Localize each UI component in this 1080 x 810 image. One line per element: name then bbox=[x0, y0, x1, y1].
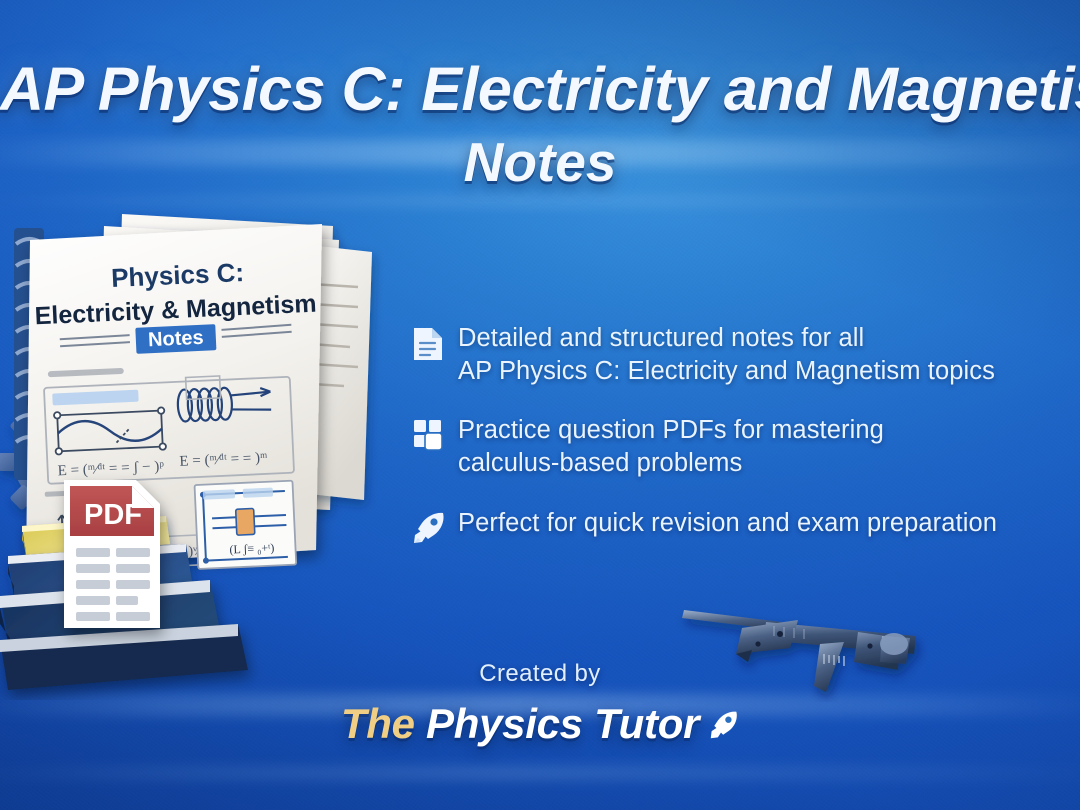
sheet-title-line-1: Physics C: bbox=[111, 257, 245, 293]
title-line-1: AP Physics C: Electricity and Magnetism bbox=[0, 58, 1080, 120]
rocket-icon bbox=[709, 702, 739, 750]
document-icon bbox=[412, 322, 458, 367]
feature-text: Practice question PDFs for mastering cal… bbox=[458, 414, 884, 480]
feature-text: Detailed and structured notes for all AP… bbox=[458, 322, 995, 388]
feature-list: Detailed and structured notes for all AP… bbox=[412, 322, 1080, 550]
poster-canvas: AP Physics C: Electricity and Magnetism … bbox=[0, 0, 1080, 810]
created-by-label: Created by bbox=[0, 660, 1080, 688]
brand-word-the: The bbox=[341, 700, 415, 747]
feature-item-practice: Practice question PDFs for mastering cal… bbox=[412, 414, 1080, 480]
pdf-label: PDF bbox=[84, 499, 142, 531]
pdf-file-badge: PDF bbox=[64, 480, 160, 628]
footer-credit: Created by The Physics Tutor bbox=[0, 660, 1080, 750]
feature-item-notes: Detailed and structured notes for all AP… bbox=[412, 322, 1080, 388]
feature-text: Perfect for quick revision and exam prep… bbox=[458, 507, 997, 540]
notes-illustration: Physics C: Electricity & Magnetism Notes bbox=[0, 200, 420, 700]
title-line-2: Notes bbox=[0, 134, 1080, 190]
rocket-icon bbox=[412, 507, 458, 550]
grid-squares-icon bbox=[412, 414, 458, 457]
light-streak-footer-secondary bbox=[0, 766, 1080, 780]
svg-text:(L ʃ≡ ₀+ᵗ): (L ʃ≡ ₀+ᵗ) bbox=[229, 541, 274, 557]
feature-item-revision: Perfect for quick revision and exam prep… bbox=[412, 507, 1080, 550]
page-title: AP Physics C: Electricity and Magnetism … bbox=[0, 58, 1080, 190]
brand-name: The Physics Tutor bbox=[0, 700, 1080, 750]
brand-word-name: Physics Tutor bbox=[426, 700, 699, 747]
svg-text:Notes: Notes bbox=[148, 327, 205, 351]
